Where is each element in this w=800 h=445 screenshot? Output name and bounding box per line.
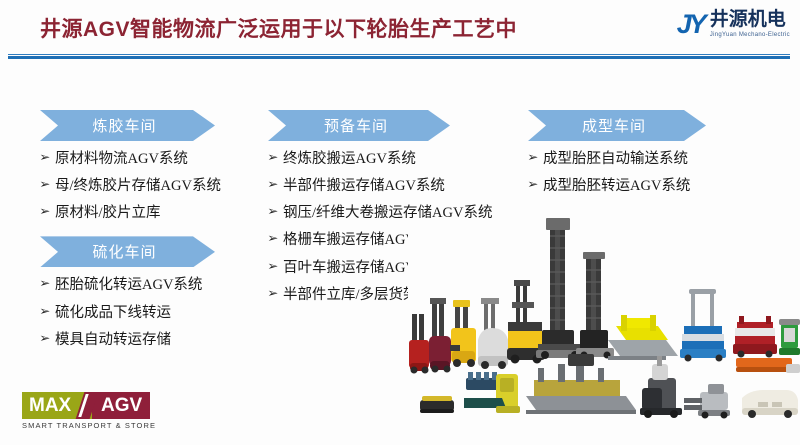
list-item-label: 母/终炼胶片存储AGV系统 [55, 177, 221, 195]
agv-product-lineup-image [408, 218, 800, 430]
list-item-label: 硫化成品下线转运 [55, 304, 171, 322]
maxagv-logo: MAX AGV SMART TRANSPORT & STORE [22, 392, 150, 430]
brand-logo-text: 井源机电 JingYuan Mechano-Electric [710, 10, 790, 38]
list-item: ➢ 半部件搬运存储AGV系统 [268, 177, 536, 195]
arrow-bullet-icon: ➢ [267, 204, 284, 219]
arrow-bullet-icon: ➢ [267, 150, 284, 165]
list-item: ➢ 母/终炼胶片存储AGV系统 [40, 177, 270, 195]
maxagv-tagline: SMART TRANSPORT & STORE [22, 421, 150, 430]
list-item-label: 半部件搬运存储AGV系统 [283, 177, 445, 195]
maxagv-word-max: MAX [29, 396, 71, 415]
list-item-label: 半部件立库/多层货架 [283, 286, 418, 304]
banner-label: 硫化车间 [92, 241, 162, 262]
list-item: ➢ 成型胎胚自动输送系统 [528, 150, 790, 168]
arrow-bullet-icon: ➢ [39, 150, 56, 165]
list-item-label: 成型胎胚自动输送系统 [543, 150, 688, 168]
header-divider-thin [8, 54, 790, 55]
list-item-label: 模具自动转运存储 [55, 331, 171, 349]
maxagv-word-agv: AGV [101, 396, 142, 415]
arrow-bullet-icon: ➢ [39, 276, 56, 291]
list-item-label: 终炼胶搬运AGV系统 [283, 150, 416, 168]
list-item: ➢ 原材料/胶片立库 [40, 204, 270, 222]
banner-preparation-workshop: 预备车间 [268, 110, 450, 141]
slide-canvas: 井源AGV智能物流广泛运用于以下轮胎生产工艺中 JY 井源机电 JingYuan… [0, 0, 800, 445]
arrow-bullet-icon: ➢ [39, 304, 56, 319]
list-item: ➢ 硫化成品下线转运 [40, 304, 270, 322]
arrow-bullet-icon: ➢ [267, 177, 284, 192]
page-title: 井源AGV智能物流广泛运用于以下轮胎生产工艺中 [40, 13, 517, 43]
banner-curing-workshop: 硫化车间 [40, 236, 215, 267]
list-item: ➢ 模具自动转运存储 [40, 331, 270, 349]
column-1: 炼胶车间 ➢ 原材料物流AGV系统 ➢ 母/终炼胶片存储AGV系统 ➢ 原材料/… [40, 110, 270, 358]
list-item: ➢ 胚胎硫化转运AGV系统 [40, 276, 270, 294]
group-curing-workshop: 硫化车间 ➢ 胚胎硫化转运AGV系统 ➢ 硫化成品下线转运 ➢ 模具自动转运存储 [40, 236, 270, 348]
list-mixing-workshop: ➢ 原材料物流AGV系统 ➢ 母/终炼胶片存储AGV系统 ➢ 原材料/胶片立库 [40, 141, 270, 222]
arrow-bullet-icon: ➢ [39, 177, 56, 192]
brand-name-cn: 井源机电 [710, 10, 790, 29]
jy-monogram-icon: JY [677, 11, 704, 38]
arrow-bullet-icon: ➢ [527, 177, 544, 192]
arrow-bullet-icon: ➢ [39, 204, 56, 219]
list-item: ➢ 终炼胶搬运AGV系统 [268, 150, 536, 168]
group-mixing-workshop: 炼胶车间 ➢ 原材料物流AGV系统 ➢ 母/终炼胶片存储AGV系统 ➢ 原材料/… [40, 110, 270, 222]
list-item-label: 原材料物流AGV系统 [55, 150, 188, 168]
maxagv-right-block: AGV [92, 392, 150, 419]
column-3: 成型车间 ➢ 成型胎胚自动输送系统 ➢ 成型胎胚转运AGV系统 [528, 110, 790, 204]
arrow-bullet-icon: ➢ [267, 231, 284, 246]
list-item-label: 胚胎硫化转运AGV系统 [55, 276, 202, 294]
group-building-workshop: 成型车间 ➢ 成型胎胚自动输送系统 ➢ 成型胎胚转运AGV系统 [528, 110, 790, 195]
banner-mixing-workshop: 炼胶车间 [40, 110, 215, 141]
list-curing-workshop: ➢ 胚胎硫化转运AGV系统 ➢ 硫化成品下线转运 ➢ 模具自动转运存储 [40, 267, 270, 348]
slide-header: 井源AGV智能物流广泛运用于以下轮胎生产工艺中 JY 井源机电 JingYuan… [0, 0, 800, 58]
header-divider [8, 56, 790, 59]
brand-name-en: JingYuan Mechano-Electric [710, 32, 790, 38]
arrow-bullet-icon: ➢ [267, 259, 284, 274]
list-building-workshop: ➢ 成型胎胚自动输送系统 ➢ 成型胎胚转运AGV系统 [528, 141, 790, 195]
list-item-label: 原材料/胶片立库 [55, 204, 161, 222]
list-item: ➢ 原材料物流AGV系统 [40, 150, 270, 168]
banner-building-workshop: 成型车间 [528, 110, 706, 141]
arrow-bullet-icon: ➢ [39, 331, 56, 346]
brand-logo: JY 井源机电 JingYuan Mechano-Electric [677, 10, 790, 38]
maxagv-logo-bar: MAX AGV [22, 392, 150, 419]
arrow-bullet-icon: ➢ [267, 286, 284, 301]
banner-label: 预备车间 [324, 115, 394, 136]
list-item: ➢ 成型胎胚转运AGV系统 [528, 177, 790, 195]
banner-label: 炼胶车间 [92, 115, 162, 136]
arrow-bullet-icon: ➢ [527, 150, 544, 165]
banner-label: 成型车间 [582, 115, 652, 136]
list-item-label: 成型胎胚转运AGV系统 [543, 177, 690, 195]
